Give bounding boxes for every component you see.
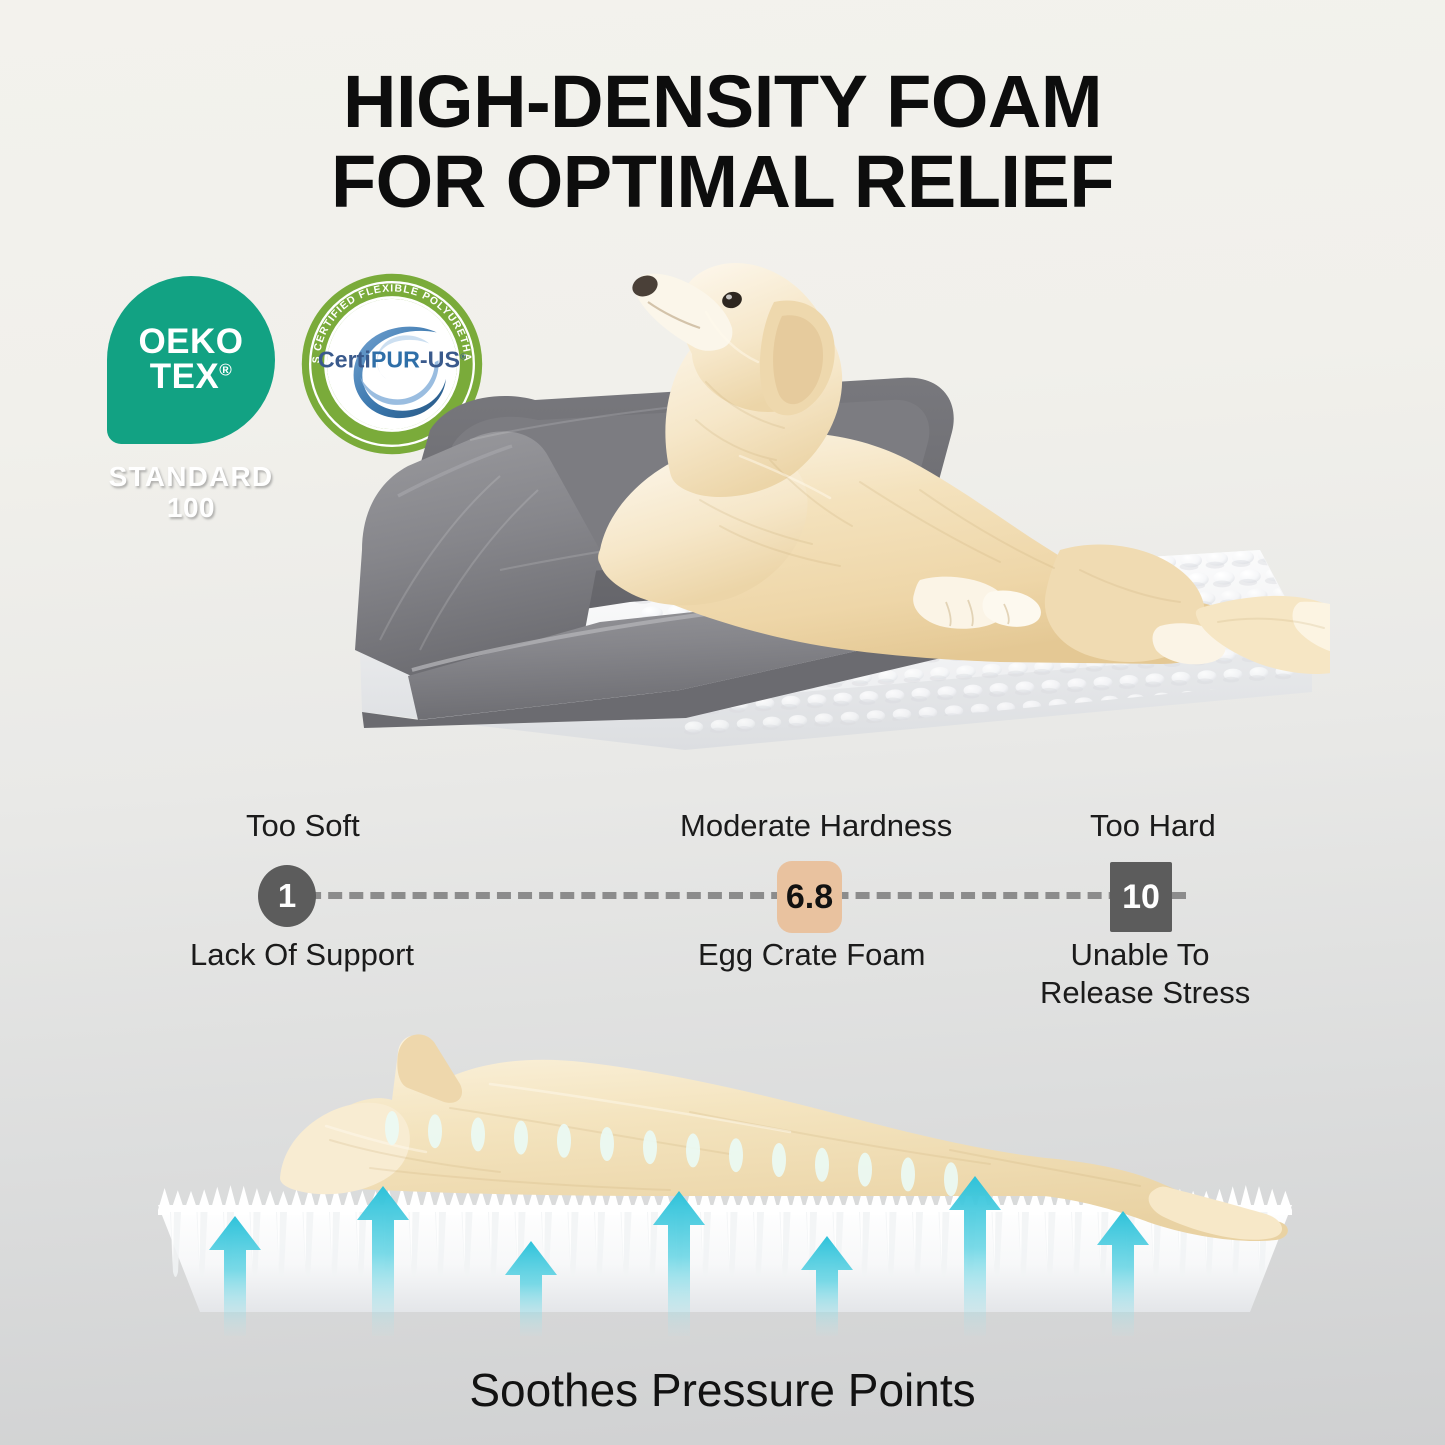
oeko-tex-wordmark: OEKO TEX® [138,324,243,394]
oeko-standard-label: STANDARD 100 [96,461,286,524]
scale-bottom-label-support: Lack Of Support [190,936,414,974]
hardness-scale: Too Soft Moderate Hardness Too Hard 1 6.… [150,808,1300,998]
bottom-caption: Soothes Pressure Points [0,1363,1445,1417]
scale-top-label-soft: Too Soft [246,808,360,844]
scale-connector-line [286,892,1186,899]
oeko-standard-number: 100 [96,492,286,523]
scale-marker-10[interactable]: 10 [1110,862,1172,932]
pressure-relief-illustration [130,1000,1320,1340]
scale-stress-line-1: Unable To [1070,937,1209,972]
oeko-text-line-1: OEKO [138,322,243,361]
scale-bottom-label-eggcrate: Egg Crate Foam [698,936,925,974]
scale-top-label-moderate: Moderate Hardness [680,808,952,844]
oeko-tex-droplet-icon: OEKO TEX® [107,276,275,444]
oeko-registered-mark: ® [219,360,232,379]
title-line-1: HIGH-DENSITY FOAM [343,60,1102,143]
page-title: HIGH-DENSITY FOAM FOR OPTIMAL RELIEF [0,62,1445,222]
oeko-text-line-2: TEX [150,357,220,396]
scale-marker-6-8[interactable]: 6.8 [777,861,842,933]
product-illustration [300,250,1330,790]
dog-lying-on-bed [598,263,1330,674]
scale-marker-1[interactable]: 1 [258,865,316,927]
pressure-points-diagram [130,1000,1320,1340]
scale-top-label-hard: Too Hard [1090,808,1216,844]
oeko-tex-badge: OEKO TEX® STANDARD 100 [96,276,286,524]
product-photo-dog-on-bed [300,250,1330,790]
title-line-2: FOR OPTIMAL RELIEF [0,142,1445,222]
oeko-standard-word: STANDARD [109,461,274,492]
